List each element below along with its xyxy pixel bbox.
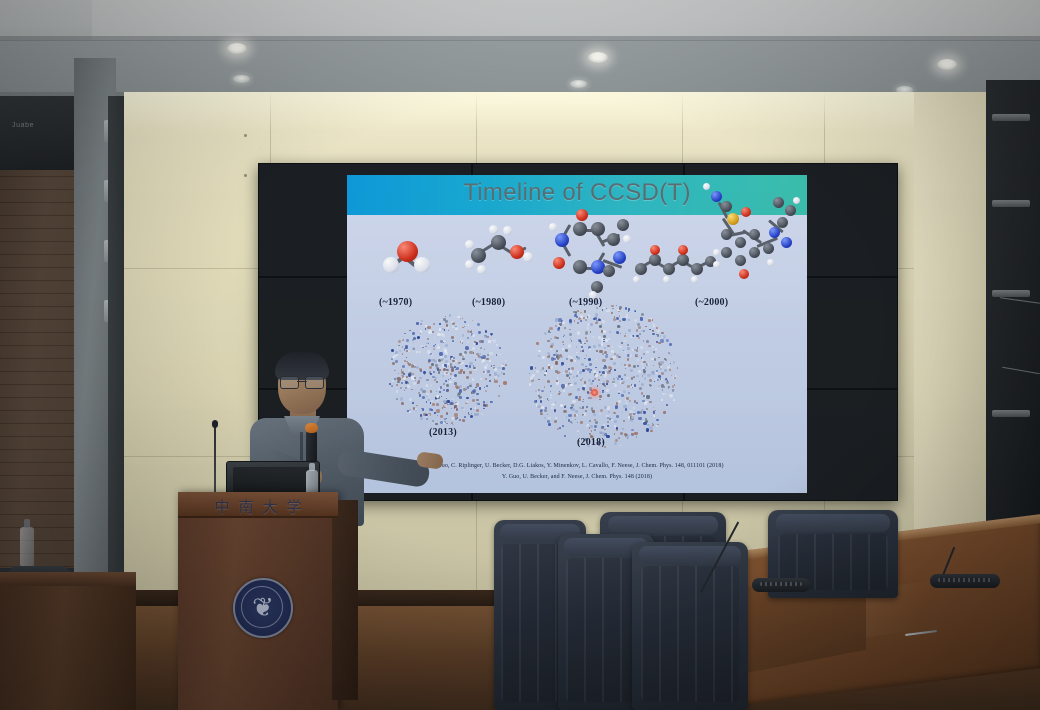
chair-front-3[interactable] [632, 542, 748, 710]
ceiling-downlight-2 [588, 52, 608, 63]
side-desk [0, 572, 136, 710]
ceiling-downlight-5 [570, 80, 587, 88]
wall-top-highlight [124, 92, 914, 132]
year-label-2018: (2018) [577, 437, 605, 448]
ceiling-edge-shadow [0, 36, 1040, 41]
ceiling-downlight-3 [937, 59, 957, 70]
molecule-caffeine [545, 215, 631, 293]
year-label-1980: (~1980) [472, 297, 505, 308]
molecule-ethanol [463, 223, 541, 279]
side-desk-top [0, 572, 136, 586]
ceiling-soffit [92, 0, 1040, 40]
table-microphone-base-2[interactable] [930, 574, 1000, 588]
ceiling-band-mid [0, 40, 1040, 98]
wall-speaker: Juabe [0, 96, 83, 170]
year-label-2000: (~2000) [695, 297, 728, 308]
year-label-1970: (~1970) [379, 297, 412, 308]
ceiling-downlight-1 [227, 43, 247, 54]
molecule-drug-like [697, 183, 801, 287]
ceiling-downlight-4 [233, 75, 250, 83]
podium-institution-label: 中南大学 [178, 496, 338, 516]
molecule-water [383, 237, 439, 277]
right-recess-area [986, 80, 1040, 580]
molecule-cluster-2018 [529, 303, 679, 448]
podium-side-panel [332, 500, 358, 700]
desk-water-bottle[interactable] [20, 527, 34, 567]
emblem-trefoil-icon: ❦ [248, 591, 278, 623]
presenter-glasses [280, 376, 324, 387]
lecture-hall-photo: Juabe Timeline of CCSD(T) [0, 0, 1040, 710]
podium-emblem: ❦ [233, 578, 293, 638]
speaker-brand-label: Juabe [12, 122, 34, 129]
table-microphone-base-1[interactable] [752, 578, 810, 592]
